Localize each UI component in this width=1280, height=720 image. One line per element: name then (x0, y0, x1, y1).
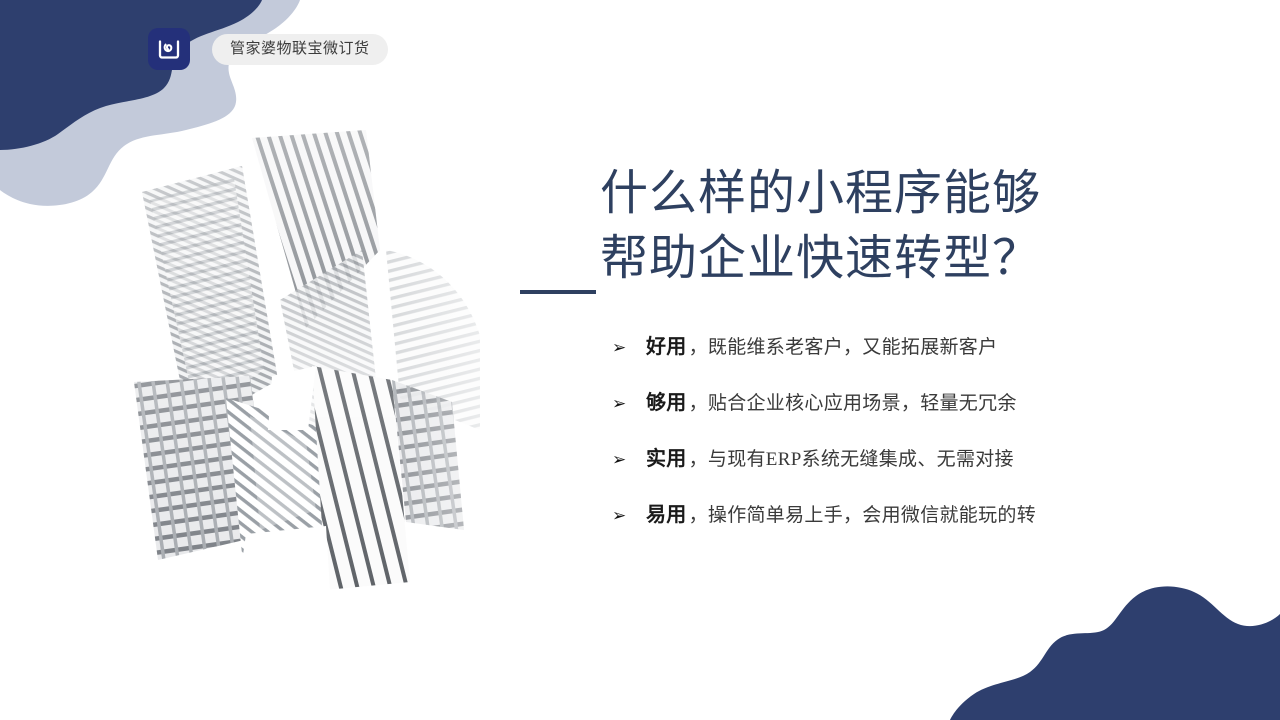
list-item: ➢ 够用，贴合企业核心应用场景，轻量无冗余 (612, 386, 1132, 442)
arrow-bullet-icon: ➢ (612, 395, 646, 412)
presentation-slide: 管家婆物联宝微订货 (0, 0, 1280, 720)
brand-badge-label: 管家婆物联宝微订货 (212, 34, 388, 65)
bottom-right-decor-navy (950, 586, 1280, 720)
list-item-text: 好用，既能维系老客户，又能拓展新客户 (646, 330, 997, 359)
list-item-lead: 易用 (646, 504, 687, 526)
list-item-text: 够用，贴合企业核心应用场景，轻量无冗余 (646, 386, 1017, 415)
list-item-rest: ，既能维系老客户，又能拓展新客户 (689, 337, 998, 358)
page-title: 什么样的小程序能够 帮助企业快速转型？ (600, 162, 1070, 292)
app-logo-icon (148, 28, 190, 70)
arrow-bullet-icon: ➢ (612, 507, 646, 524)
list-item-text: 实用，与现有ERP系统无缝集成、无需对接 (646, 442, 1014, 471)
list-item-rest: ，与现有ERP系统无缝集成、无需对接 (689, 449, 1014, 470)
feature-bullet-list: ➢ 好用，既能维系老客户，又能拓展新客户 ➢ 够用，贴合企业核心应用场景，轻量无… (612, 330, 1132, 554)
list-item: ➢ 好用，既能维系老客户，又能拓展新客户 (612, 330, 1132, 386)
list-item-lead: 够用 (646, 392, 687, 414)
page-title-line-1: 什么样的小程序能够 (600, 162, 1070, 227)
arrow-bullet-icon: ➢ (612, 339, 646, 356)
architecture-photo-collage (130, 130, 480, 590)
list-item: ➢ 实用，与现有ERP系统无缝集成、无需对接 (612, 442, 1132, 498)
list-item-rest: ，贴合企业核心应用场景，轻量无冗余 (689, 393, 1017, 414)
arrow-bullet-icon: ➢ (612, 451, 646, 468)
bottom-right-decor-shape (950, 540, 1280, 720)
list-item-lead: 实用 (646, 448, 687, 470)
list-item-lead: 好用 (646, 336, 687, 358)
list-item: ➢ 易用，操作简单易上手，会用微信就能玩的转 (612, 498, 1132, 554)
title-underline-rule (520, 290, 596, 294)
page-title-line-2: 帮助企业快速转型？ (600, 227, 1070, 292)
list-item-rest: ，操作简单易上手，会用微信就能玩的转 (689, 505, 1036, 526)
list-item-text: 易用，操作简单易上手，会用微信就能玩的转 (646, 498, 1036, 527)
top-left-decor-navy (0, 0, 262, 150)
brand-header: 管家婆物联宝微订货 (148, 27, 388, 71)
